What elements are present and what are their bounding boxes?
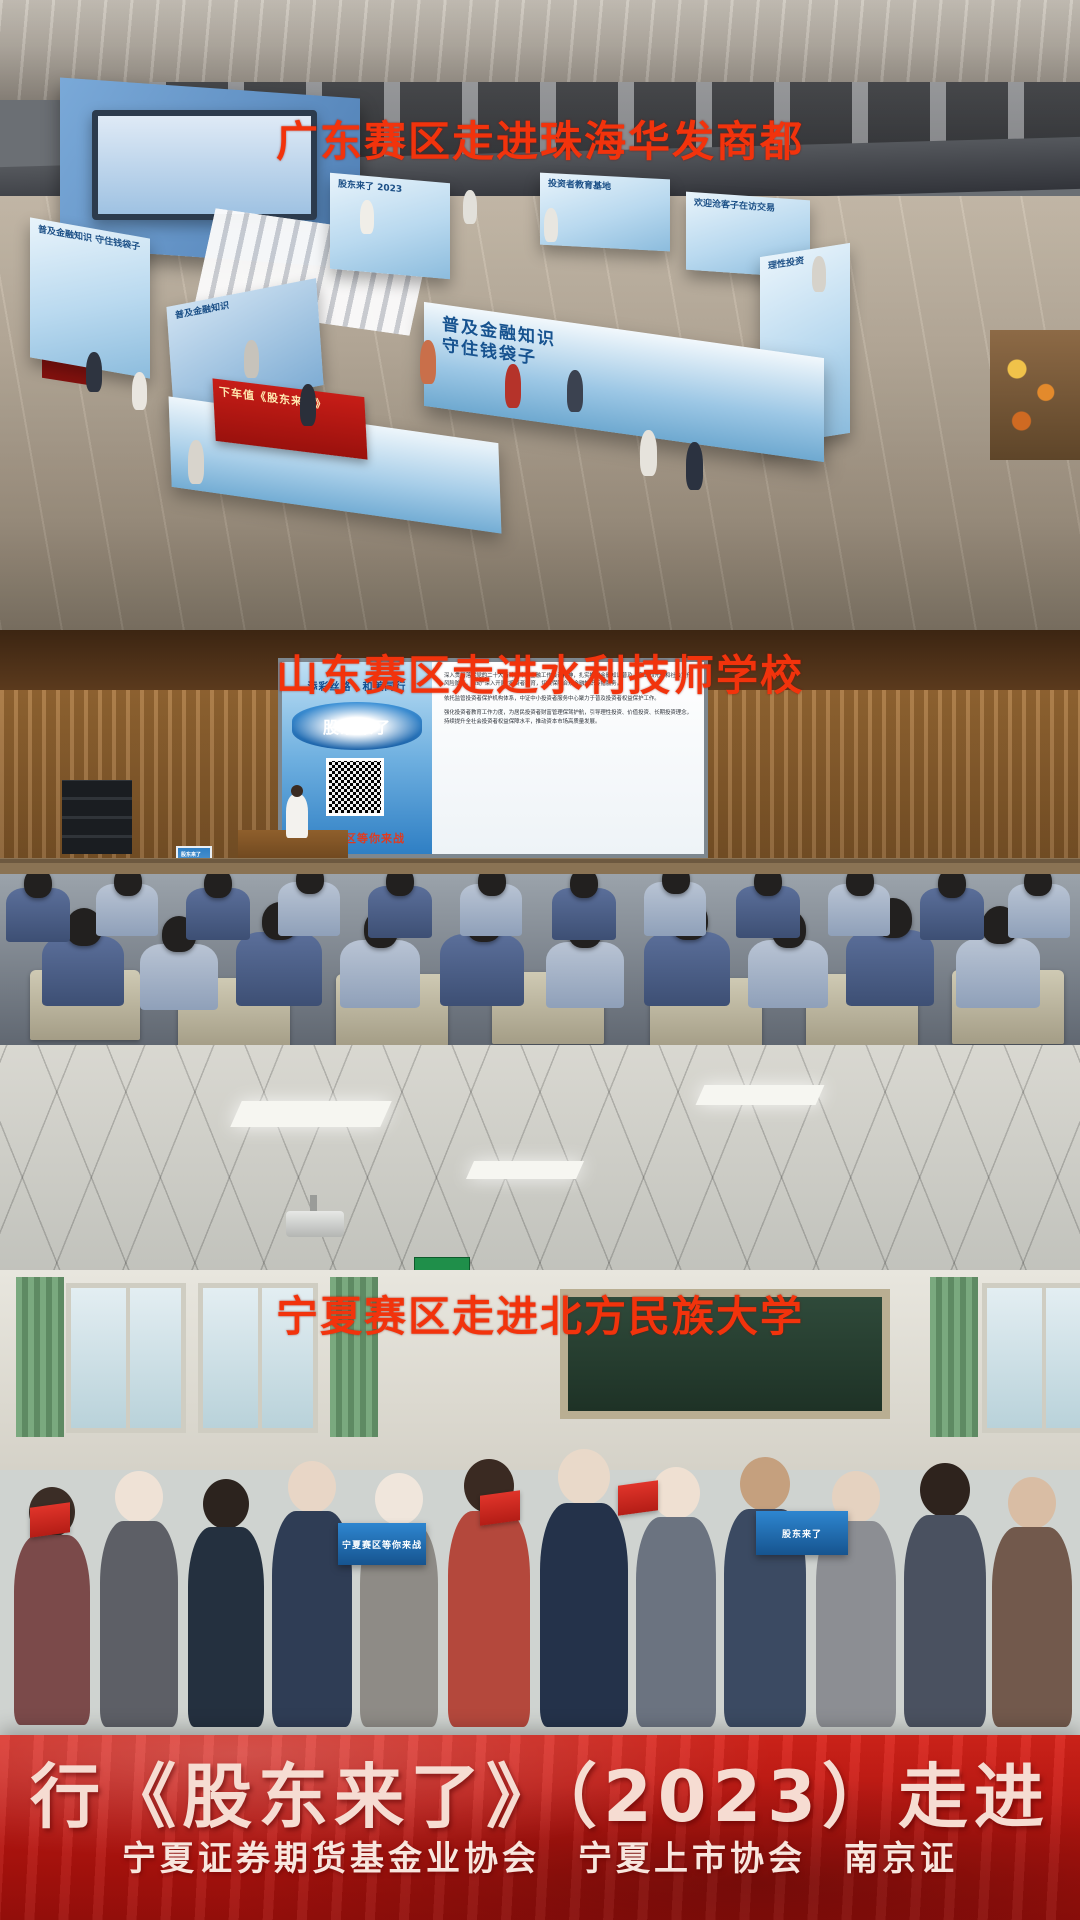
student-head [386, 874, 414, 896]
attendee-body [636, 1517, 716, 1727]
student-head [114, 874, 142, 896]
exhibition-booth: 股东来了 2023 [330, 173, 450, 279]
event-red-banner: 行《股东来了》（2023）走进 宁夏证券期货基金业协会 宁夏上市协会 南京证 [0, 1735, 1080, 1920]
attendee-body [14, 1535, 90, 1725]
photo-collage: 普及金融知识 守住钱袋子 普及金融知识 股东来了 2023 投资者教育基地 欢迎… [0, 0, 1080, 1920]
student [236, 932, 322, 1006]
student [546, 942, 624, 1008]
attendee [904, 1463, 986, 1727]
held-sign: 股东来了 [756, 1511, 848, 1555]
visitor [812, 256, 826, 292]
banner-headline: 行《股东来了》（2023）走进 [0, 1741, 1080, 1842]
booth-label: 理性投资 [768, 256, 804, 272]
student-head [846, 874, 874, 896]
visitor [86, 352, 102, 392]
student [748, 940, 828, 1008]
student-head [570, 874, 598, 898]
student [846, 930, 934, 1006]
panel-guangdong: 普及金融知识 守住钱袋子 普及金融知识 股东来了 2023 投资者教育基地 欢迎… [0, 0, 1080, 630]
attendee-head [1008, 1477, 1056, 1529]
hand-flag [30, 1502, 70, 1538]
booth-label: 投资者教育基地 [548, 179, 611, 192]
student-head [662, 874, 690, 894]
attendee-body [904, 1515, 986, 1727]
attendee [188, 1479, 264, 1727]
ceiling-light [696, 1085, 825, 1105]
banner-organizers: 宁夏证券期货基金业协会 宁夏上市协会 南京证 [0, 1831, 1080, 1880]
visitor [300, 384, 316, 426]
booth-label: 欢迎沧客子在访交易 [694, 198, 775, 214]
attendee-head [288, 1461, 336, 1513]
visitor [360, 200, 374, 234]
student-head [754, 874, 782, 896]
student-head [938, 874, 966, 898]
panel-shandong: 添彩丝路 和美同行 股东来了 山东赛区等你来战 深入贯彻落实党的二十大精神和中央… [0, 630, 1080, 1045]
attendee [724, 1457, 806, 1727]
attendee [272, 1461, 352, 1727]
exhibition-booth: 投资者教育基地 [540, 173, 670, 252]
attendee [992, 1477, 1072, 1727]
attendee-body [992, 1527, 1072, 1727]
panel-title-guangdong: 广东赛区走进珠海华发商都 [0, 108, 1080, 169]
booth-label: 普及金融知识 [175, 301, 230, 321]
stage-loudspeaker [62, 780, 132, 854]
student-head [24, 874, 52, 898]
presenter [286, 794, 308, 838]
student [644, 932, 730, 1006]
visitor [686, 442, 703, 490]
student [140, 944, 218, 1010]
attendee-head [115, 1471, 163, 1523]
ceiling-light [230, 1101, 392, 1127]
student [440, 934, 524, 1006]
attendee-head [920, 1463, 970, 1517]
visitor [463, 190, 477, 224]
attendee-body [540, 1503, 628, 1727]
main-counter-slogan: 普及金融知识 守住钱袋子 [442, 314, 556, 369]
visitor [505, 364, 521, 408]
visitor [132, 372, 147, 410]
student-audience [0, 874, 1080, 1045]
booth-label: 股东来了 2023 [338, 179, 402, 195]
attendee-head [652, 1467, 700, 1519]
visitor [244, 340, 259, 378]
attendee-head [375, 1473, 423, 1525]
student-head [1024, 874, 1052, 896]
visitor [567, 370, 583, 412]
qr-code-icon [326, 758, 384, 816]
ceiling-light [466, 1161, 584, 1179]
student [42, 936, 124, 1006]
attendee-head [558, 1449, 610, 1505]
held-sign-text: 股东来了 [782, 1527, 822, 1540]
attendee-body [100, 1521, 178, 1727]
held-sign-text: 宁夏赛区等你来战 [342, 1538, 422, 1551]
attendee [540, 1449, 628, 1727]
slide-paragraph: 强化投资者教育工作力度，为居民投资者财富管理保驾护航，引导理性投资、价值投资、长… [444, 709, 692, 726]
student-head [478, 874, 506, 896]
visitor [188, 440, 204, 484]
event-logo: 股东来了 [292, 702, 422, 750]
ceiling-projector [286, 1211, 344, 1237]
event-logo-name: 股东来了 [323, 714, 391, 738]
attendee [816, 1471, 896, 1727]
attendee [360, 1473, 438, 1727]
panel-title-shandong: 山东赛区走进水利技师学校 [0, 642, 1080, 703]
visitor [640, 430, 657, 476]
panel-title-ningxia: 宁夏赛区走进北方民族大学 [0, 1283, 1080, 1344]
hand-flag [480, 1490, 520, 1526]
visitor [420, 340, 436, 384]
attendee-body [188, 1527, 264, 1727]
student [340, 940, 420, 1008]
student [956, 938, 1040, 1008]
attendee [100, 1471, 178, 1727]
visitor [544, 208, 558, 242]
attendee-head [740, 1457, 790, 1511]
fruit-display-stand [990, 330, 1080, 460]
held-sign: 宁夏赛区等你来战 [338, 1523, 426, 1565]
attendee-head [203, 1479, 249, 1529]
hand-flag [618, 1480, 658, 1516]
student-head [296, 874, 324, 894]
attendee-body [448, 1511, 530, 1727]
student-head [204, 874, 232, 898]
